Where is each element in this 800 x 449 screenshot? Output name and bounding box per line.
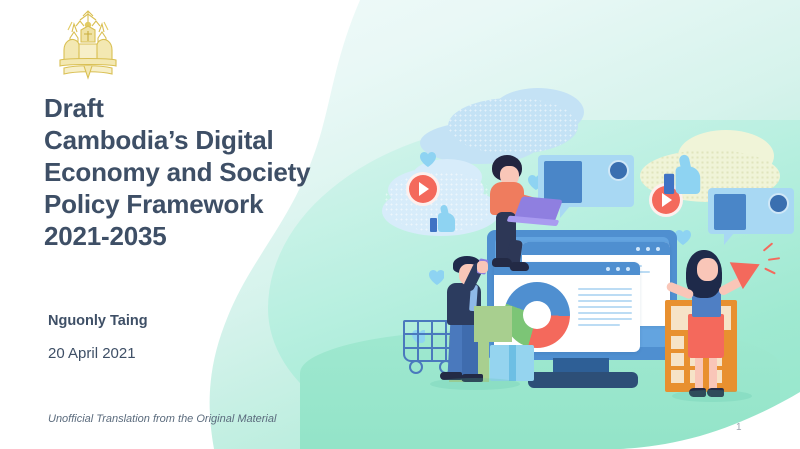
author-name: Nguonly Taing: [48, 313, 148, 329]
page-title: Draft Cambodia’s Digital Economy and Soc…: [44, 92, 364, 252]
title-line-1: Draft: [44, 92, 364, 124]
page-number: 1: [736, 422, 742, 433]
title-line-4: Policy Framework: [44, 188, 364, 220]
presentation-date: 20 April 2021: [48, 345, 136, 362]
title-line-3: Economy and Society: [44, 156, 364, 188]
title-line-2: Cambodia’s Digital: [44, 124, 364, 156]
royal-arms-of-cambodia-emblem: [50, 8, 126, 86]
title-line-5: 2021-2035: [44, 220, 364, 252]
translation-footnote: Unofficial Translation from the Original…: [48, 413, 276, 425]
title-slide: Draft Cambodia’s Digital Economy and Soc…: [0, 0, 800, 449]
